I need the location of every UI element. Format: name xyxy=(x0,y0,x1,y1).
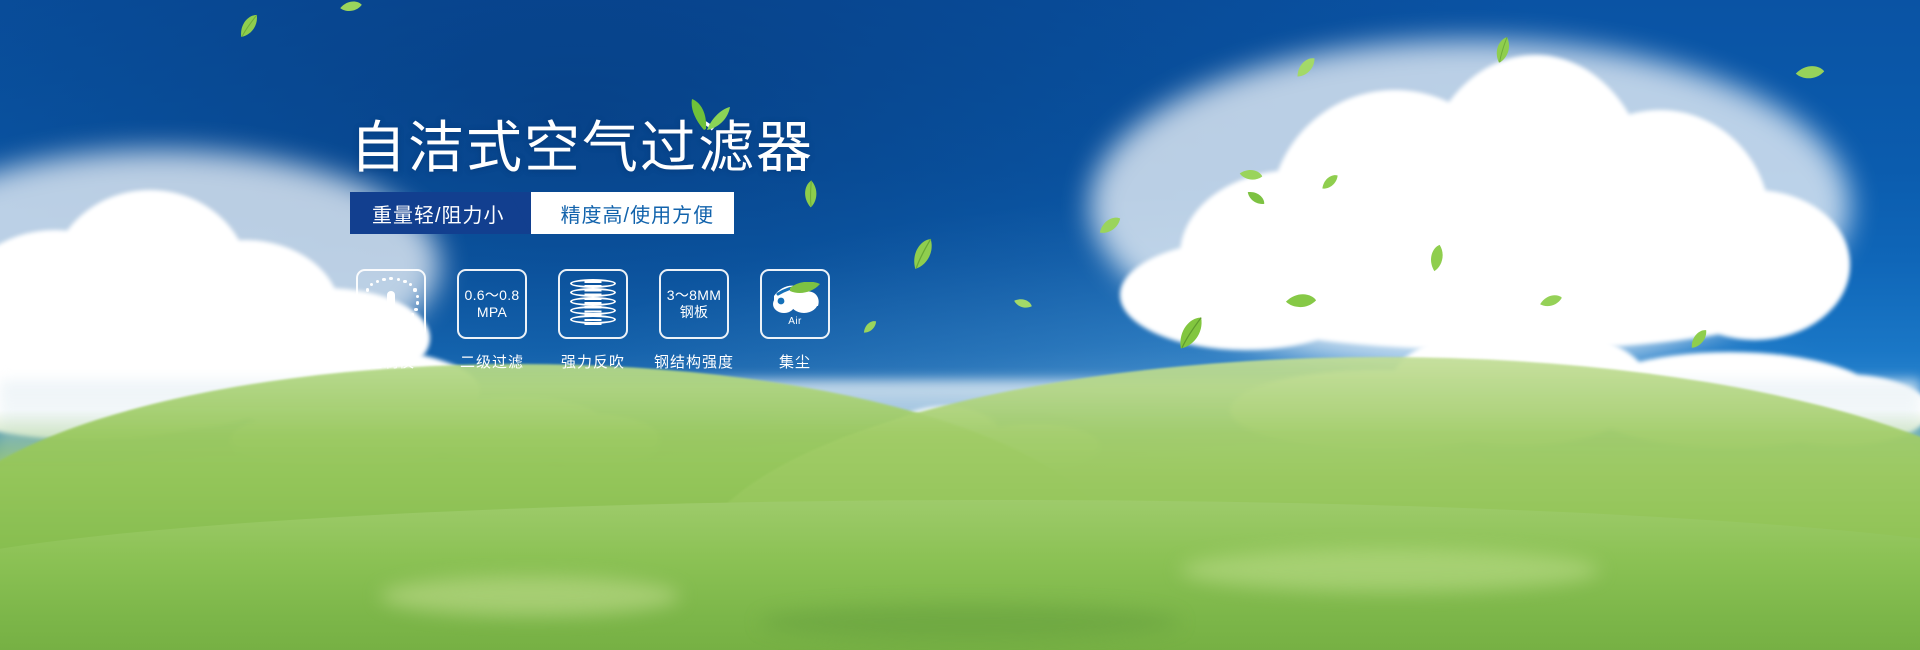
subtitle-right-text: 精度高/使用方便 xyxy=(561,199,715,228)
subtitle-bar: 重量轻/阻力小 精度高/使用方便 xyxy=(350,192,734,234)
steel-icon-line1: 3〜8MM xyxy=(667,287,721,304)
feature-item[interactable]: 强力反吹 xyxy=(558,269,628,372)
feature-item[interactable]: 0.6〜0.8 MPA 二级过滤 xyxy=(457,269,527,372)
coil-icon xyxy=(570,279,616,329)
subtitle-right: 精度高/使用方便 xyxy=(531,192,735,234)
feature-icon-box: Air xyxy=(760,269,830,339)
feature-icon-box: 0.6〜0.8 MPA xyxy=(457,269,527,339)
hero-banner: 自洁式空气过滤器 重量轻/阻力小 精度高/使用方便 xyxy=(0,0,1920,650)
gauge-icon: NO OFF xyxy=(363,276,419,332)
feature-label: 控制仪 xyxy=(367,351,415,372)
page-title-text: 自洁式空气过滤器 xyxy=(350,116,814,179)
feature-label: 钢结构强度 xyxy=(654,351,734,372)
feature-label: 集尘 xyxy=(779,351,811,372)
feature-label: 二级过滤 xyxy=(460,351,524,372)
gauge-needle xyxy=(387,291,395,321)
air-cloud-label: Air xyxy=(768,316,822,327)
feature-icon-box: 3〜8MM 钢板 xyxy=(659,269,729,339)
pressure-icon-line2: MPA xyxy=(477,304,507,321)
feature-item[interactable]: NO OFF xyxy=(356,269,426,372)
air-cloud-icon: Air xyxy=(768,282,822,326)
feature-item[interactable]: Air 集尘 xyxy=(760,269,830,372)
page-title: 自洁式空气过滤器 xyxy=(350,120,814,176)
feature-icon-box xyxy=(558,269,628,339)
feature-icon-box: NO OFF xyxy=(356,269,426,339)
subtitle-left-text: 重量轻/阻力小 xyxy=(372,199,505,228)
gauge-label-max: OFF xyxy=(408,323,419,329)
subtitle-left: 重量轻/阻力小 xyxy=(350,192,531,234)
feature-label: 强力反吹 xyxy=(561,351,625,372)
title-leaf-icon xyxy=(680,84,732,140)
feature-item[interactable]: 3〜8MM 钢板 钢结构强度 xyxy=(659,269,729,372)
pressure-icon-line1: 0.6〜0.8 xyxy=(464,287,519,304)
banner-content: 自洁式空气过滤器 重量轻/阻力小 精度高/使用方便 xyxy=(0,0,1920,650)
feature-list: NO OFF xyxy=(356,269,830,372)
steel-icon-line2: 钢板 xyxy=(680,304,709,321)
